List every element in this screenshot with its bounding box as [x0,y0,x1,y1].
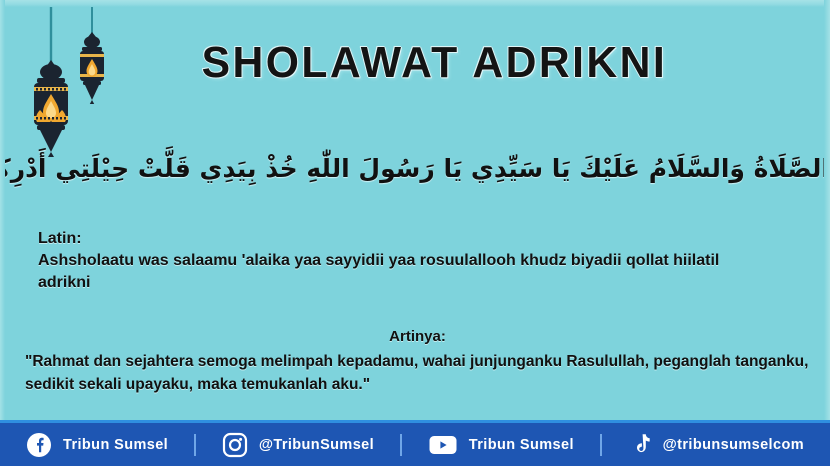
social-item-youtube[interactable]: Tribun Sumsel [428,432,574,458]
social-item-tiktok[interactable]: @tribunsumselcom [628,432,804,458]
meaning-text: "Rahmat dan sejahtera semoga melimpah ke… [25,350,810,396]
youtube-icon [428,432,458,458]
tiktok-icon [628,432,652,458]
arabic-dua-text: الصَّلَاةُ وَالسَّلَامُ عَلَيْكَ يَا سَي… [0,148,830,190]
instagram-icon [222,432,248,458]
meaning-section: Artinya: "Rahmat dan sejahtera semoga me… [25,326,810,396]
title-row: SHOLAWAT ADRIKNI [0,38,830,88]
facebook-icon [26,432,52,458]
social-label-youtube: Tribun Sumsel [469,437,574,453]
footer-separator-1 [194,434,196,456]
arabic-text-row: الصَّلَاةُ وَالسَّلَامُ عَلَيْكَ يَا سَي… [0,148,830,190]
latin-section: Latin: Ashsholaatu was salaamu 'alaika y… [38,228,798,294]
latin-label: Latin: [38,228,798,250]
social-label-instagram: @TribunSumsel [259,437,374,453]
footer-separator-3 [600,434,602,456]
social-label-facebook: Tribun Sumsel [63,437,168,453]
social-item-facebook[interactable]: Tribun Sumsel [26,432,168,458]
poster-canvas: SHOLAWAT ADRIKNI الصَّلَاةُ وَالسَّلَامُ… [0,0,830,466]
latin-transliteration-text: Ashsholaatu was salaamu 'alaika yaa sayy… [38,250,768,294]
social-footer-bar: Tribun Sumsel @TribunSumsel Tribun Sumse… [0,420,830,466]
footer-separator-2 [400,434,402,456]
social-label-tiktok: @tribunsumselcom [663,437,804,453]
social-item-instagram[interactable]: @TribunSumsel [222,432,374,458]
meaning-label: Artinya: [25,326,810,348]
left-frame-edge [0,0,5,466]
page-title: SHOLAWAT ADRIKNI [163,38,667,88]
